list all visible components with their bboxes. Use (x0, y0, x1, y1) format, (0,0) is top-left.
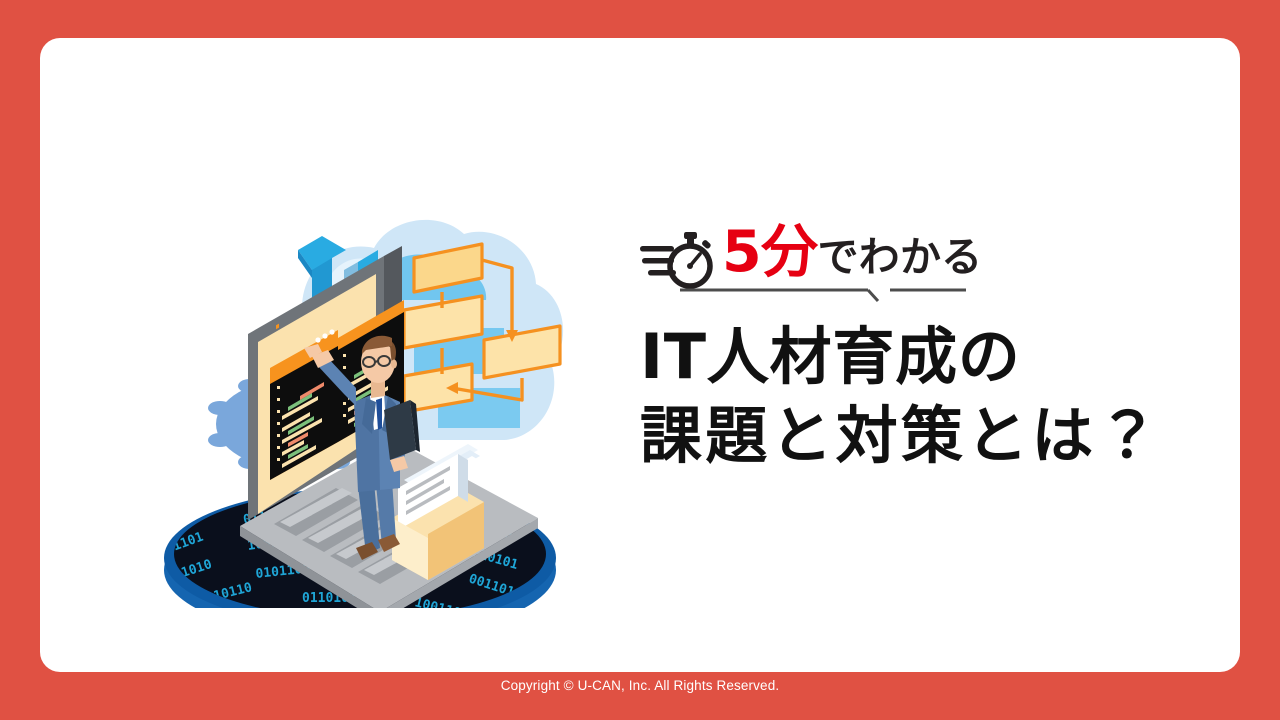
eyebrow-suffix: でわかる (818, 233, 983, 281)
page-title: IT人材育成の 課題と対策とは？ (640, 318, 1240, 475)
slide-card: 01001 1010011 0101101 1001010 110010 011… (40, 38, 1240, 672)
headline-block: 5分でわかる IT人材育成の 課題と対策とは？ (640, 224, 1240, 475)
eyebrow-text: 5分でわかる (722, 224, 982, 281)
title-line-1: IT人材育成の (640, 318, 1240, 397)
title-line-2: 課題と対策とは？ (640, 397, 1240, 476)
eyebrow: 5分でわかる (640, 224, 1240, 300)
svg-text:01001: 01001 (167, 485, 209, 511)
it-training-isometric-illustration: 01001 1010011 0101101 1001010 110010 011… (152, 188, 582, 608)
slide-root: 01001 1010011 0101101 1001010 110010 011… (0, 0, 1280, 720)
stopwatch-icon (640, 230, 718, 292)
eyebrow-highlight: 5分 (722, 219, 818, 285)
eyebrow-underline (678, 286, 968, 302)
footer-copyright: Copyright © U-CAN, Inc. All Rights Reser… (0, 678, 1280, 693)
